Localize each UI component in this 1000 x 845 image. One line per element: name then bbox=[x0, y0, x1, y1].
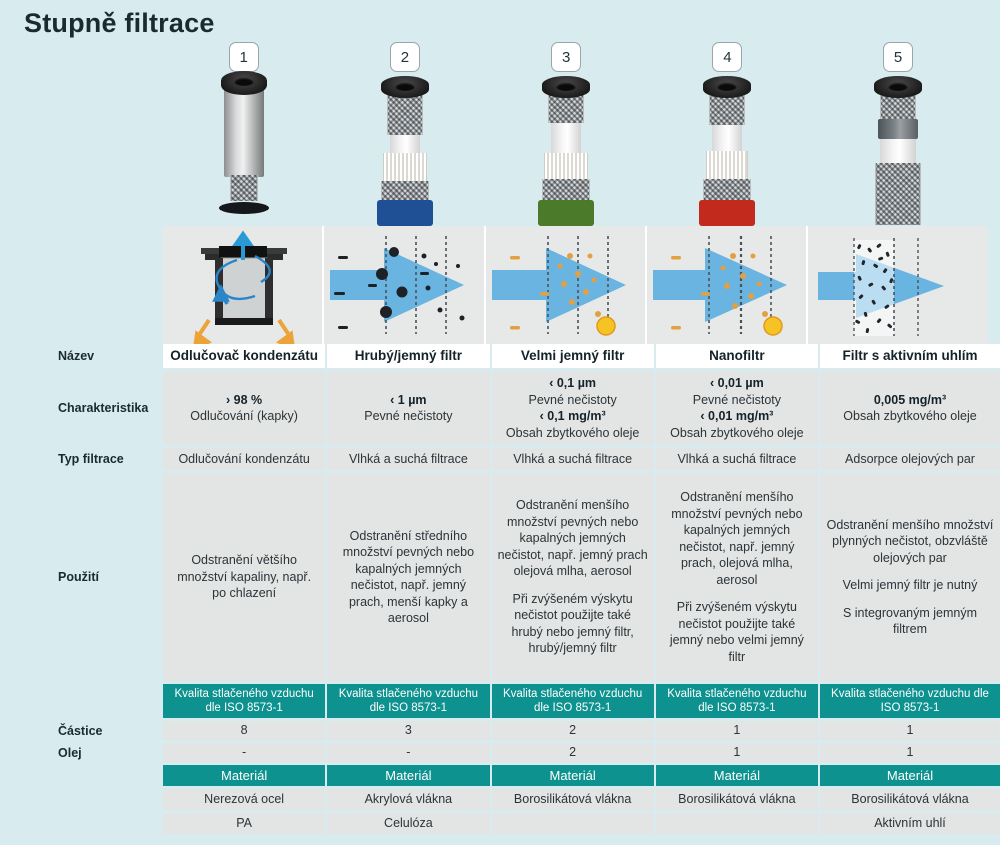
cell-oil-3: 2 bbox=[492, 743, 656, 762]
cell-material2-3 bbox=[492, 813, 656, 834]
oil-aerosol-flow-icon bbox=[486, 226, 647, 344]
table-row-characteristic: Charakteristika › 98 % Odlučování (kapky… bbox=[0, 371, 1000, 445]
cell-usage-1: Odstranění většího množství kapaliny, na… bbox=[163, 473, 327, 681]
cell-oil-2: - bbox=[327, 743, 491, 762]
cell-iso-4: Kvalita stlačeného vzduchu dle ISO 8573-… bbox=[656, 684, 820, 718]
badge-2: 2 bbox=[390, 42, 420, 72]
cell-name-5: Filtr s aktivním uhlím bbox=[820, 344, 1000, 368]
cell-usage-4: Odstranění menšího množství pevných nebo… bbox=[656, 473, 820, 681]
cell-material1-3: Borosilikátová vlákna bbox=[492, 789, 656, 810]
cell-material2-4 bbox=[656, 813, 820, 834]
cell-particles-4: 1 bbox=[656, 721, 820, 740]
badge-3: 3 bbox=[551, 42, 581, 72]
cell-particles-5: 1 bbox=[820, 721, 1000, 740]
cell-material2-2: Celulóza bbox=[327, 813, 491, 834]
product-photo-5: 5 bbox=[808, 36, 988, 226]
cell-characteristic-4: ‹ 0,01 µm Pevné nečistoty ‹ 0,01 mg/m³ O… bbox=[656, 371, 820, 445]
table-row-material-2: PA Celulóza Aktivním uhlí bbox=[0, 813, 1000, 834]
cell-material2-5: Aktivním uhlí bbox=[820, 813, 1000, 834]
cartridge-5 bbox=[868, 76, 928, 226]
cell-material1-1: Nerezová ocel bbox=[163, 789, 327, 810]
particle-flow-icon bbox=[324, 226, 485, 344]
cell-usage-3: Odstranění menšího množství pevných nebo… bbox=[492, 473, 656, 681]
row-label-particles: Částice bbox=[0, 721, 163, 740]
cell-iso-3: Kvalita stlačeného vzduchu dle ISO 8573-… bbox=[492, 684, 656, 718]
cyclone-separator-icon bbox=[163, 226, 324, 344]
diagram-coarse-fine-filter bbox=[324, 226, 485, 344]
table-row-material-1: Nerezová ocel Akrylová vlákna Borosiliká… bbox=[0, 789, 1000, 810]
comparison-table: Název Odlučovač kondenzátu Hrubý/jemný f… bbox=[0, 344, 1000, 834]
cell-name-4: Nanofiltr bbox=[656, 344, 820, 368]
cell-material2-1: PA bbox=[163, 813, 327, 834]
cell-characteristic-2: ‹ 1 µm Pevné nečistoty bbox=[327, 371, 491, 445]
cell-filtration-type-3: Vlhká a suchá filtrace bbox=[492, 448, 656, 470]
cell-particles-3: 2 bbox=[492, 721, 656, 740]
cell-material-header-2: Materiál bbox=[327, 765, 491, 786]
cell-filtration-type-2: Vlhká a suchá filtrace bbox=[327, 448, 491, 470]
row-label-material1-spacer bbox=[0, 789, 163, 810]
cell-material-header-4: Materiál bbox=[656, 765, 820, 786]
row-label-iso-spacer bbox=[0, 684, 163, 718]
cell-characteristic-1: › 98 % Odlučování (kapky) bbox=[163, 371, 327, 445]
cell-characteristic-3: ‹ 0,1 µm Pevné nečistoty ‹ 0,1 mg/m³ Obs… bbox=[492, 371, 656, 445]
cell-filtration-type-5: Adsorpce olejových par bbox=[820, 448, 1000, 470]
badge-4: 4 bbox=[712, 42, 742, 72]
row-label-usage: Použití bbox=[0, 473, 163, 681]
table-row-oil: Olej - - 2 1 1 bbox=[0, 743, 1000, 762]
row-label-characteristic: Charakteristika bbox=[0, 371, 163, 445]
cartridge-2 bbox=[375, 76, 435, 226]
cell-name-1: Odlučovač kondenzátu bbox=[163, 344, 327, 368]
diagram-cyclone-separator bbox=[163, 226, 324, 344]
cell-usage-5: Odstranění menšího množství plynných neč… bbox=[820, 473, 1000, 681]
table-row-name: Název Odlučovač kondenzátu Hrubý/jemný f… bbox=[0, 344, 1000, 368]
carbon-bed-icon bbox=[808, 226, 988, 344]
product-photo-4: 4 bbox=[647, 36, 808, 226]
cartridge-4 bbox=[697, 76, 757, 226]
infographic-page: Stupně filtrace 1 2 bbox=[0, 0, 1000, 845]
cell-oil-5: 1 bbox=[820, 743, 1000, 762]
row-label-name: Název bbox=[0, 344, 163, 368]
cell-material-header-1: Materiál bbox=[163, 765, 327, 786]
table-row-material-header: Materiál Materiál Materiál Materiál Mate… bbox=[0, 765, 1000, 786]
table-row-particles: Částice 8 3 2 1 1 bbox=[0, 721, 1000, 740]
nano-flow-icon bbox=[647, 226, 808, 344]
row-label-material-spacer bbox=[0, 765, 163, 786]
cell-name-3: Velmi jemný filtr bbox=[492, 344, 656, 368]
cell-iso-5: Kvalita stlačeného vzduchu dle ISO 8573-… bbox=[820, 684, 1000, 718]
cell-iso-2: Kvalita stlačeného vzduchu dle ISO 8573-… bbox=[327, 684, 491, 718]
cartridge-3 bbox=[536, 76, 596, 226]
product-photo-band: 1 2 3 bbox=[163, 36, 988, 226]
row-label-oil: Olej bbox=[0, 743, 163, 762]
cell-material-header-5: Materiál bbox=[820, 765, 1000, 786]
cell-particles-2: 3 bbox=[327, 721, 491, 740]
badge-5: 5 bbox=[883, 42, 913, 72]
product-photo-2: 2 bbox=[324, 36, 485, 226]
cell-oil-1: - bbox=[163, 743, 327, 762]
cell-oil-4: 1 bbox=[656, 743, 820, 762]
cell-usage-2: Odstranění středního množství pevných ne… bbox=[327, 473, 491, 681]
diagram-very-fine-filter bbox=[486, 226, 647, 344]
badge-1: 1 bbox=[229, 42, 259, 72]
product-photo-3: 3 bbox=[486, 36, 647, 226]
table-row-iso-header: Kvalita stlačeného vzduchu dle ISO 8573-… bbox=[0, 684, 1000, 718]
diagram-nanofilter bbox=[647, 226, 808, 344]
table-row-filtration-type: Typ filtrace Odlučování kondenzátu Vlhká… bbox=[0, 448, 1000, 470]
cell-material1-5: Borosilikátová vlákna bbox=[820, 789, 1000, 810]
cell-characteristic-5: 0,005 mg/m³ Obsah zbytkového oleje bbox=[820, 371, 1000, 445]
cell-material-header-3: Materiál bbox=[492, 765, 656, 786]
row-label-filtration-type: Typ filtrace bbox=[0, 448, 163, 470]
cell-filtration-type-1: Odlučování kondenzátu bbox=[163, 448, 327, 470]
table-row-usage: Použití Odstranění většího množství kapa… bbox=[0, 473, 1000, 681]
product-photo-1: 1 bbox=[163, 36, 324, 226]
page-title: Stupně filtrace bbox=[24, 8, 215, 39]
cell-particles-1: 8 bbox=[163, 721, 327, 740]
process-diagram-band bbox=[163, 226, 988, 344]
cell-material1-4: Borosilikátová vlákna bbox=[656, 789, 820, 810]
row-label-material2-spacer bbox=[0, 813, 163, 834]
cartridge-1 bbox=[214, 71, 274, 226]
cell-material1-2: Akrylová vlákna bbox=[327, 789, 491, 810]
diagram-activated-carbon bbox=[808, 226, 988, 344]
cell-name-2: Hrubý/jemný filtr bbox=[327, 344, 491, 368]
cell-iso-1: Kvalita stlačeného vzduchu dle ISO 8573-… bbox=[163, 684, 327, 718]
cell-filtration-type-4: Vlhká a suchá filtrace bbox=[656, 448, 820, 470]
